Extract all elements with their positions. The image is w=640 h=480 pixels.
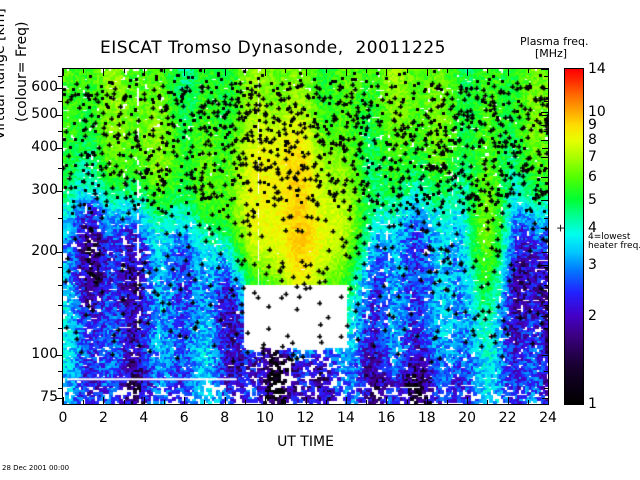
tick-mark — [63, 397, 64, 405]
x-tick-label: 16 — [377, 410, 395, 426]
tick-mark — [487, 400, 488, 405]
tick-mark — [544, 131, 549, 132]
tick-mark — [58, 305, 63, 306]
colorbar-tick-mark — [541, 112, 549, 113]
tick-mark — [407, 68, 408, 73]
tick-mark — [164, 400, 165, 405]
colorbar-tick-mark — [541, 140, 549, 141]
tick-mark — [124, 68, 125, 73]
colorbar-tick-label: 2 — [588, 308, 597, 324]
colorbar-tick-label: 14 — [588, 61, 606, 77]
colorbar-tick-mark — [541, 69, 549, 70]
y-tick-label: 500 — [0, 106, 58, 122]
y-tick-label: 75 — [0, 389, 58, 405]
colorbar-heater-marker: + — [556, 222, 565, 235]
tick-mark — [103, 397, 104, 405]
x-tick-label: 8 — [220, 410, 229, 426]
tick-mark — [467, 397, 468, 405]
tick-mark — [56, 115, 63, 116]
tick-mark — [542, 148, 549, 149]
tick-mark — [427, 68, 428, 76]
x-tick-label: 2 — [99, 410, 108, 426]
plot-area — [62, 68, 549, 405]
x-tick-label: 0 — [59, 410, 68, 426]
tick-mark — [58, 285, 63, 286]
tick-mark — [63, 68, 64, 76]
colorbar-tick-label: 6 — [588, 169, 597, 185]
tick-mark — [103, 68, 104, 76]
x-tick-label: 24 — [539, 410, 557, 426]
tick-mark — [58, 218, 63, 219]
colorbar-tick-mark — [541, 265, 549, 266]
x-tick-label: 12 — [297, 410, 315, 426]
tick-mark — [124, 400, 125, 405]
tick-mark — [346, 68, 347, 76]
tick-mark — [326, 400, 327, 405]
tick-mark — [542, 88, 549, 89]
tick-mark — [56, 355, 63, 356]
y-tick-label: 400 — [0, 139, 58, 155]
tick-mark — [528, 68, 529, 73]
colorbar-tick-label: 5 — [588, 192, 597, 208]
tick-mark — [225, 397, 226, 405]
tick-mark — [544, 285, 549, 286]
colorbar-header-line2: [MHz] — [520, 48, 582, 60]
x-tick-label: 22 — [499, 410, 517, 426]
colorbar-gradient — [565, 69, 583, 404]
tick-mark — [265, 68, 266, 76]
tick-mark — [366, 68, 367, 73]
y-tick-label: 300 — [0, 182, 58, 198]
tick-mark — [245, 68, 246, 73]
tick-mark — [544, 371, 549, 372]
tick-mark — [542, 355, 549, 356]
tick-mark — [58, 328, 63, 329]
tick-mark — [225, 68, 226, 76]
tick-mark — [184, 397, 185, 405]
tick-mark — [542, 191, 549, 192]
tick-mark — [56, 398, 63, 399]
tick-mark — [306, 68, 307, 76]
colorbar-tick-mark — [541, 200, 549, 201]
tick-mark — [467, 68, 468, 76]
x-tick-label: 10 — [256, 410, 274, 426]
tick-mark — [83, 68, 84, 73]
colorbar — [564, 68, 584, 405]
tick-mark — [58, 388, 63, 389]
tick-mark — [56, 252, 63, 253]
tick-mark — [544, 218, 549, 219]
colorbar-tick-label: 3 — [588, 257, 597, 273]
tick-mark — [144, 68, 145, 76]
colorbar-tick-label: 7 — [588, 149, 597, 165]
tick-mark — [285, 68, 286, 73]
tick-mark — [58, 131, 63, 132]
colorbar-tick-label: 8 — [588, 132, 597, 148]
tick-mark — [542, 115, 549, 116]
colorbar-tick-mark — [541, 404, 549, 405]
x-tick-label: 4 — [139, 410, 148, 426]
y-tick-label: 200 — [0, 243, 58, 259]
tick-mark — [407, 400, 408, 405]
tick-mark — [386, 68, 387, 76]
tick-mark — [184, 68, 185, 76]
colorbar-tick-mark — [541, 125, 549, 126]
tick-mark — [56, 148, 63, 149]
tick-mark — [326, 68, 327, 73]
tick-mark — [144, 397, 145, 405]
x-tick-label: 14 — [337, 410, 355, 426]
tick-mark — [346, 397, 347, 405]
footer-timestamp: 28 Dec 2001 00:00 — [2, 464, 69, 472]
tick-mark — [204, 68, 205, 73]
tick-mark — [164, 68, 165, 73]
tick-mark — [544, 305, 549, 306]
heatmap-canvas — [63, 69, 548, 404]
tick-mark — [56, 88, 63, 89]
tick-mark — [245, 400, 246, 405]
tick-mark — [544, 328, 549, 329]
tick-mark — [58, 101, 63, 102]
tick-mark — [58, 267, 63, 268]
tick-mark — [306, 397, 307, 405]
x-tick-label: 6 — [180, 410, 189, 426]
tick-mark — [83, 400, 84, 405]
tick-mark — [544, 101, 549, 102]
y-tick-label: 600 — [0, 79, 58, 95]
tick-mark — [366, 400, 367, 405]
tick-mark — [508, 397, 509, 405]
colorbar-tick-mark — [541, 316, 549, 317]
colorbar-note: 4=lowest heater freq. — [588, 233, 640, 251]
x-tick-label: 20 — [458, 410, 476, 426]
tick-mark — [447, 68, 448, 73]
colorbar-header: Plasma freq. [MHz] — [520, 36, 640, 60]
tick-mark — [544, 388, 549, 389]
x-tick-label: 18 — [418, 410, 436, 426]
colorbar-tick-mark — [541, 177, 549, 178]
tick-mark — [285, 400, 286, 405]
y-tick-label: 100 — [0, 346, 58, 362]
tick-mark — [58, 371, 63, 372]
colorbar-tick-mark — [541, 157, 549, 158]
tick-mark — [58, 168, 63, 169]
colorbar-tick-label: 1 — [588, 396, 597, 412]
tick-mark — [528, 400, 529, 405]
tick-mark — [204, 400, 205, 405]
colorbar-tick-mark — [541, 228, 549, 229]
figure-root: EISCAT Tromso Dynasonde, 20011225 Plasma… — [0, 0, 640, 480]
colorbar-tick-label: 9 — [588, 117, 597, 133]
x-axis-label: UT TIME — [62, 434, 549, 450]
tick-mark — [508, 68, 509, 76]
tick-mark — [386, 397, 387, 405]
page-title: EISCAT Tromso Dynasonde, 20011225 — [100, 38, 446, 58]
tick-mark — [265, 397, 266, 405]
tick-mark — [542, 252, 549, 253]
tick-mark — [487, 68, 488, 73]
tick-mark — [544, 267, 549, 268]
tick-mark — [447, 400, 448, 405]
tick-mark — [544, 168, 549, 169]
tick-mark — [427, 397, 428, 405]
tick-mark — [56, 191, 63, 192]
